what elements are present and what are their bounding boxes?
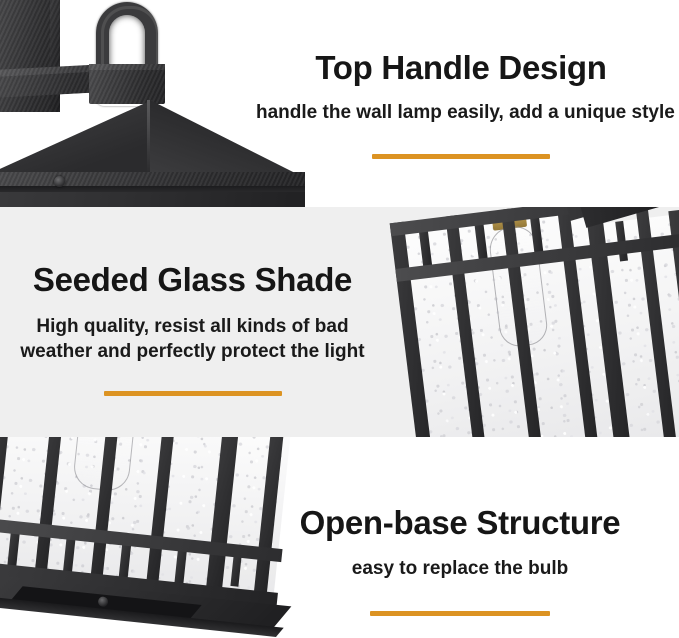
- lamp-handle-collar-top: [89, 64, 165, 70]
- feature-text-open-base: Open-base Structure easy to replace the …: [270, 505, 650, 616]
- feature-heading: Top Handle Design: [256, 50, 666, 86]
- lamp-screw-icon: [54, 176, 65, 187]
- feature-subtitle-line: handle the wall lamp easily, add a uniqu…: [256, 100, 666, 125]
- lamp-roof-ridge: [147, 100, 150, 174]
- lamp-upper-body: [0, 192, 305, 207]
- lamp-backplate-edge: [50, 0, 60, 112]
- lamp-base-rotation-group: [0, 437, 304, 638]
- feature-text-seeded-glass: Seeded Glass Shade High quality, resist …: [10, 262, 375, 396]
- infographic-page: Top Handle Design handle the wall lamp e…: [0, 0, 679, 638]
- lamp-image-seeded-glass: [378, 207, 679, 437]
- feature-panel-open-base: Open-base Structure easy to replace the …: [0, 437, 679, 638]
- accent-divider: [372, 154, 550, 159]
- feature-subtitle-line: High quality, resist all kinds of bad: [10, 314, 375, 339]
- feature-panel-top-handle: Top Handle Design handle the wall lamp e…: [0, 0, 679, 207]
- accent-divider: [104, 391, 282, 396]
- feature-subtitle-line: easy to replace the bulb: [270, 556, 650, 581]
- lamp-image-open-base: [0, 437, 298, 638]
- lamp-handle-collar: [89, 66, 165, 104]
- feature-subtitle-line: weather and perfectly protect the light: [10, 339, 375, 364]
- feature-heading: Open-base Structure: [270, 505, 650, 541]
- feature-heading: Seeded Glass Shade: [10, 262, 375, 298]
- feature-panel-seeded-glass: Seeded Glass Shade High quality, resist …: [0, 207, 679, 437]
- lamp-glass-rotation-group: [368, 207, 679, 437]
- accent-divider: [370, 611, 550, 616]
- feature-text-top-handle: Top Handle Design handle the wall lamp e…: [256, 50, 666, 159]
